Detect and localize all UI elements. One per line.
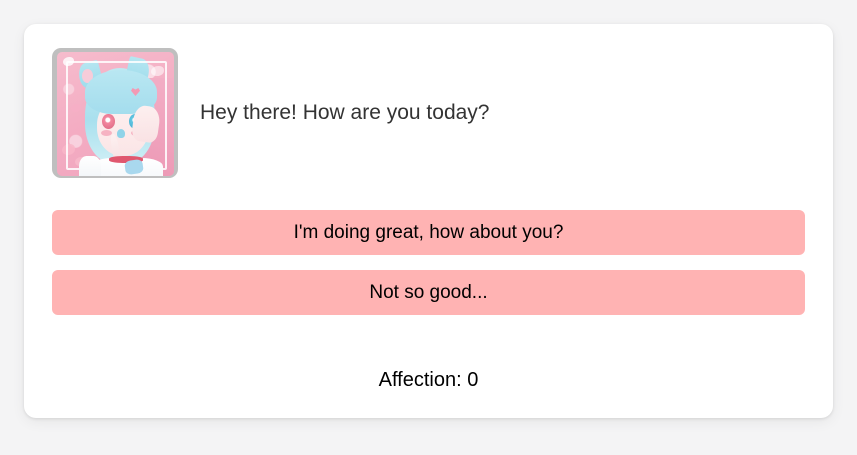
dialogue-message: Hey there! How are you today? (200, 99, 805, 126)
avatar-artwork (57, 52, 174, 176)
app-root: Hey there! How are you today? I'm doing … (0, 0, 857, 455)
petal-decoration-icon (62, 144, 75, 155)
avatar (52, 48, 178, 178)
choice-button-negative[interactable]: Not so good... (52, 270, 805, 315)
avatar-sleeve (79, 156, 101, 176)
petal-decoration-icon (151, 66, 164, 76)
affection-counter: Affection: 0 (52, 369, 805, 392)
avatar-eye-left (102, 114, 115, 129)
dialogue-card: Hey there! How are you today? I'm doing … (24, 24, 833, 418)
petal-decoration-icon (63, 57, 74, 66)
choice-button-positive[interactable]: I'm doing great, how about you? (52, 210, 805, 255)
petal-decoration-icon (71, 104, 81, 112)
dialogue-row: Hey there! How are you today? (52, 48, 805, 178)
choice-list: I'm doing great, how about you? Not so g… (52, 210, 805, 330)
avatar-face-mark (117, 129, 125, 138)
